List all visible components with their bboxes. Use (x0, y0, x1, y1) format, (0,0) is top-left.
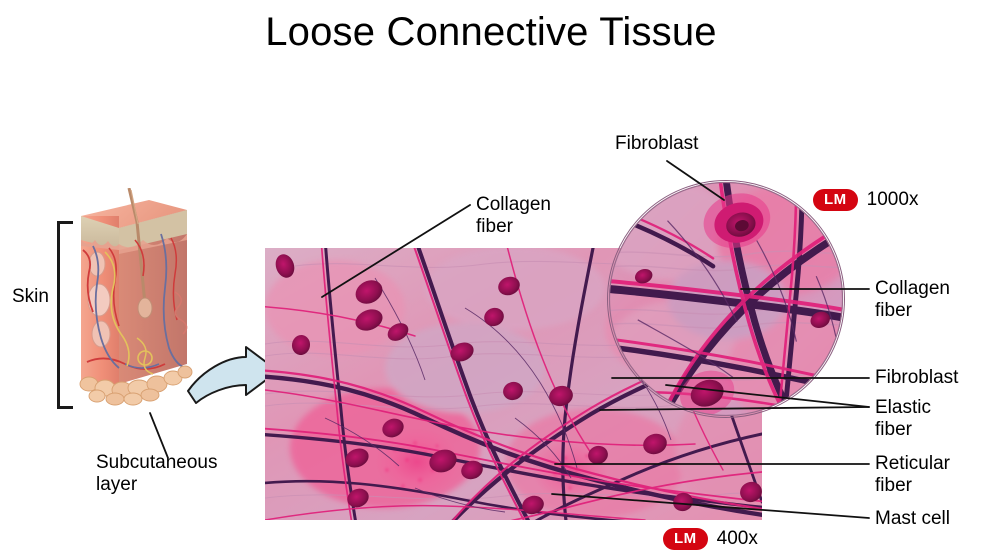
lm-pill-icon: LM (663, 528, 708, 550)
lm-pill-icon: LM (813, 189, 858, 211)
label-fibroblast-right: Fibroblast (875, 367, 958, 389)
magnification-value-inset: 1000x (867, 189, 919, 211)
label-mast-cell: Mast cell (875, 508, 950, 530)
skin-label: Skin (12, 286, 49, 308)
label-collagen-fiber-right: Collagen fiber (875, 278, 950, 323)
skin-cross-section-illustration (75, 188, 193, 420)
circular-magnified-inset (607, 180, 845, 418)
skin-bracket (57, 221, 73, 409)
subcutaneous-layer-label: Subcutaneous layer (96, 452, 218, 497)
slide-canvas: Loose Connective Tissue (0, 0, 982, 560)
label-fibroblast-top: Fibroblast (615, 133, 698, 155)
magnification-badge-inset: LM 1000x (813, 189, 918, 211)
page-title: Loose Connective Tissue (0, 8, 982, 56)
magnification-badge-micrograph: LM 400x (663, 528, 758, 550)
magnification-value-micrograph: 400x (717, 528, 758, 550)
label-reticular-fiber: Reticular fiber (875, 453, 950, 498)
label-elastic-fiber: Elastic fiber (875, 397, 931, 442)
label-collagen-fiber-top: Collagen fiber (476, 194, 551, 239)
